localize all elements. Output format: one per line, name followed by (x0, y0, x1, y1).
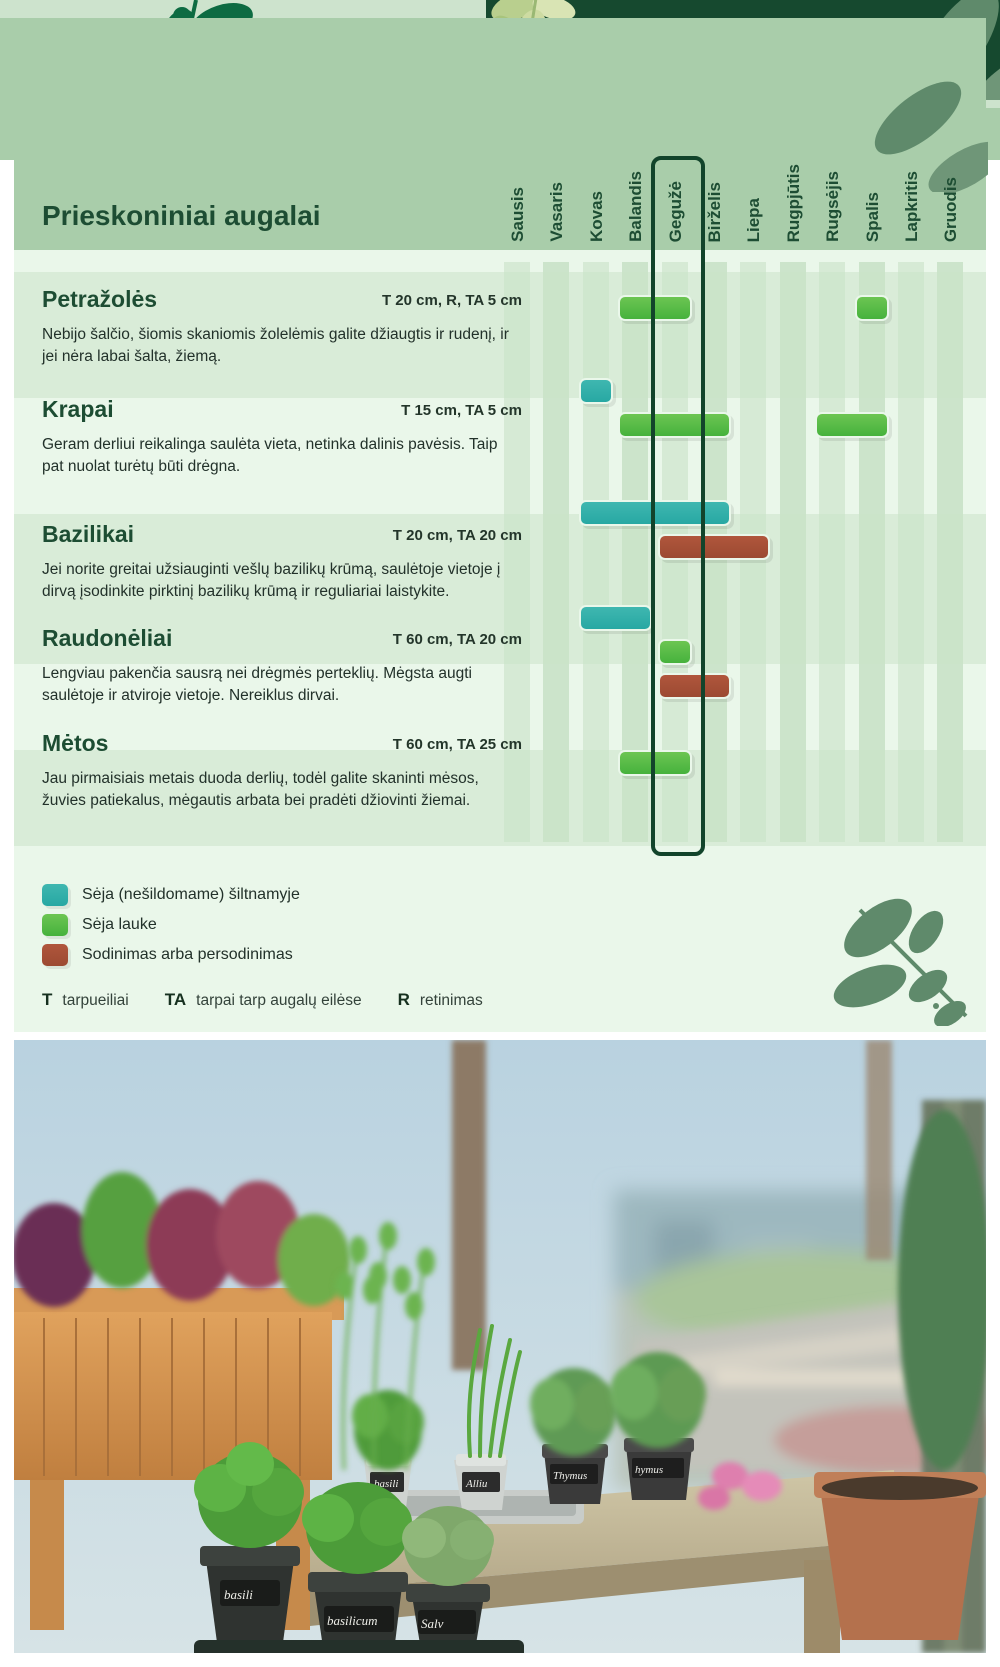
legend-swatch-planting (42, 944, 68, 966)
plant-entry-header: BazilikaiT 20 cm, TA 20 cm (42, 521, 522, 555)
legend-item-sow-outdoor: Sėja lauke (42, 910, 300, 940)
plant-description: Lengviau pakenčia sausrą nei drėgmės per… (42, 663, 522, 708)
month-label-spalis: Spalis (863, 192, 883, 242)
plant-entry-petražolės: PetražolėsT 20 cm, R, TA 5 cmNebijo šalč… (42, 286, 522, 369)
legend-label: Sėja lauke (82, 916, 157, 934)
month-label-liepa: Liepa (744, 198, 764, 242)
plant-spacing-spec: T 60 cm, TA 25 cm (393, 736, 522, 753)
plant-entry-header: RaudonėliaiT 60 cm, TA 20 cm (42, 625, 522, 659)
plant-spacing-spec: T 15 cm, TA 5 cm (401, 402, 522, 419)
plant-entry-mėtos: MėtosT 60 cm, TA 25 cmJau pirmaisiais me… (42, 730, 522, 813)
abbreviation-key: T (42, 990, 52, 1010)
bar-krapai-sow-outdoor-2 (815, 412, 888, 438)
legend-item-planting: Sodinimas arba persodinimas (42, 940, 300, 970)
bar-krapai-sow-greenhouse-0 (579, 378, 613, 404)
seeding-calendar-page: Sėjos kalendorius Prieskoniniai augalai … (0, 0, 1000, 1667)
plant-description: Jau pirmaisiais metais duoda derlių, tod… (42, 768, 522, 813)
svg-text:basilicum: basilicum (327, 1613, 378, 1628)
bar-raudonėliai-sow-greenhouse-0 (579, 605, 652, 631)
abbreviation-value: tarpueiliai (62, 992, 128, 1010)
abbreviation-ta: TAtarpai tarp augalų eilėse (165, 990, 362, 1010)
highlighted-month-gegužė (651, 156, 705, 856)
plant-entry-header: MėtosT 60 cm, TA 25 cm (42, 730, 522, 764)
month-label-lapkritis: Lapkritis (902, 171, 922, 242)
legend: Sėja (nešildomame) šiltnamyjeSėja laukeS… (42, 880, 300, 970)
abbreviation-r: Rretinimas (398, 990, 483, 1010)
abbreviation-value: tarpai tarp augalų eilėse (196, 992, 361, 1010)
plant-spacing-spec: T 20 cm, R, TA 5 cm (382, 292, 522, 309)
plant-name: Mėtos (42, 730, 108, 757)
month-label-birželis: Birželis (705, 182, 725, 242)
bottom-leaf-sprig-icon (800, 856, 980, 1026)
plant-spacing-spec: T 20 cm, TA 20 cm (393, 527, 522, 544)
svg-text:hymus: hymus (635, 1464, 663, 1476)
legend-swatch-sow-outdoor (42, 914, 68, 936)
plant-name: Petražolės (42, 286, 157, 313)
plant-name: Krapai (42, 396, 114, 423)
plant-entry-header: PetražolėsT 20 cm, R, TA 5 cm (42, 286, 522, 320)
svg-text:Salv: Salv (421, 1616, 444, 1631)
abbreviation-legend: TtarpueiliaiTAtarpai tarp augalų eilėseR… (42, 990, 519, 1010)
bottom-dots-icon (924, 992, 964, 1032)
plant-name: Bazilikai (42, 521, 134, 548)
plant-description: Jei norite greitai užsiauginti vešlų baz… (42, 559, 522, 604)
legend-swatch-sow-greenhouse (42, 884, 68, 906)
plant-description: Nebijo šalčio, šiomis skaniomis žolelėmi… (42, 324, 522, 369)
month-label-sausis: Sausis (508, 187, 528, 242)
month-label-rugpjūtis: Rugpjūtis (784, 164, 804, 242)
calendar-card: Prieskoniniai augalai SausisVasarisKovas… (14, 18, 986, 1032)
plant-spacing-spec: T 60 cm, TA 20 cm (393, 631, 522, 648)
month-label-rugsėjis: Rugsėjis (823, 171, 843, 242)
plant-entry-bazilikai: BazilikaiT 20 cm, TA 20 cmJei norite gre… (42, 521, 522, 604)
month-label-balandis: Balandis (626, 171, 646, 242)
plant-entry-krapai: KrapaiT 15 cm, TA 5 cmGeram derliui reik… (42, 396, 522, 479)
plant-name: Raudonėliai (42, 625, 172, 652)
legend-label: Sodinimas arba persodinimas (82, 946, 293, 964)
month-label-vasaris: Vasaris (547, 182, 567, 242)
plant-entry-raudonėliai: RaudonėliaiT 60 cm, TA 20 cmLengviau pak… (42, 625, 522, 708)
bar-petražolės-sow-outdoor-1 (855, 295, 889, 321)
month-label-kovas: Kovas (587, 191, 607, 242)
svg-text:basili: basili (224, 1587, 253, 1602)
month-label-gruodis: Gruodis (941, 177, 961, 242)
month-header-row: SausisVasarisKovasBalandisGegužėBirželis… (14, 18, 986, 250)
plant-description: Geram derliui reikalinga saulėta vieta, … (42, 434, 522, 479)
abbreviation-value: retinimas (420, 992, 483, 1010)
abbreviation-t: Ttarpueiliai (42, 990, 129, 1010)
abbreviation-key: TA (165, 990, 186, 1010)
legend-label: Sėja (nešildomame) šiltnamyje (82, 886, 300, 904)
legend-item-sow-greenhouse: Sėja (nešildomame) šiltnamyje (42, 880, 300, 910)
herb-garden-photo: basili Alliu (14, 1040, 986, 1653)
abbreviation-key: R (398, 990, 410, 1010)
svg-text:Alliu: Alliu (465, 1478, 488, 1490)
plant-entry-header: KrapaiT 15 cm, TA 5 cm (42, 396, 522, 430)
svg-text:Thymus: Thymus (553, 1470, 587, 1482)
